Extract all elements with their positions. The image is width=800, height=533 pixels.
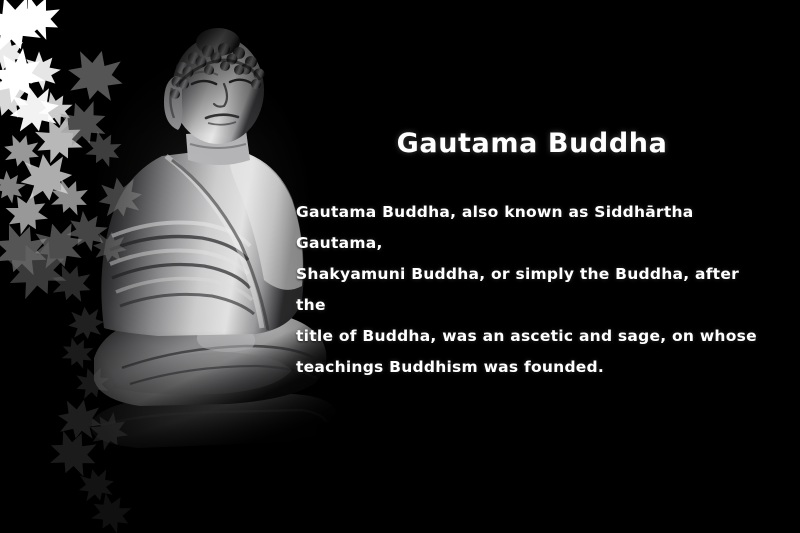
description-line-2: Shakyamuni Buddha, or simply the Buddha,… (296, 259, 768, 321)
maple-leaves-decoration (0, 0, 190, 533)
description-paragraph: Gautama Buddha, also known as Siddhārtha… (296, 197, 768, 383)
description-line-1: Gautama Buddha, also known as Siddhārtha… (296, 197, 768, 259)
text-block: Gautama Buddha Gautama Buddha, also know… (296, 128, 768, 383)
poster-canvas: Gautama Buddha Gautama Buddha, also know… (0, 0, 800, 533)
page-title: Gautama Buddha (296, 128, 768, 159)
description-line-4: teachings Buddhism was founded. (296, 352, 768, 383)
description-line-3: title of Buddha, was an ascetic and sage… (296, 321, 768, 352)
